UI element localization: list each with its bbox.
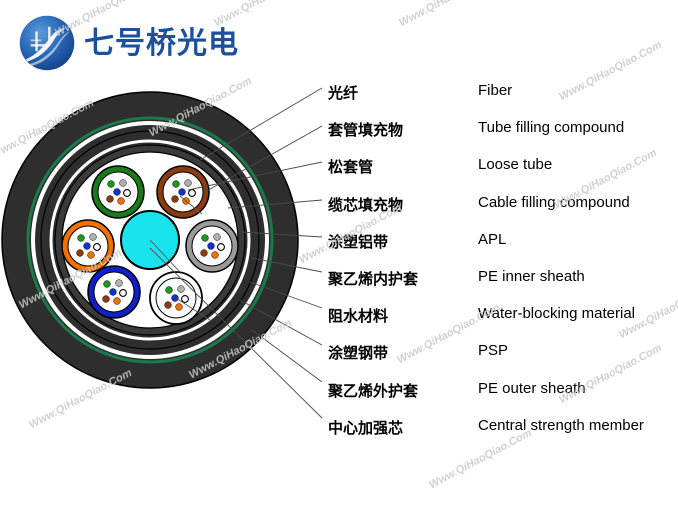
watermark-text: Www.QiHaoQiao.Com bbox=[557, 342, 664, 406]
label-en-pe-outer-sheath: PE outer sheath bbox=[478, 380, 586, 397]
brand-logo: 七号桥光电 bbox=[18, 12, 318, 74]
cable-cross-section-diagram bbox=[0, 60, 340, 420]
brand-name: 七号桥光电 bbox=[84, 18, 239, 62]
label-en-central-strength-member: Central strength member bbox=[478, 417, 644, 434]
label-cn-pe-outer-sheath: 聚乙烯外护套 bbox=[328, 380, 418, 401]
bridge-sphere-logo-icon bbox=[18, 14, 76, 72]
label-cn-psp: 涂塑钢带 bbox=[328, 342, 388, 363]
loose-tube-grey bbox=[186, 220, 238, 272]
watermark-text: Www.QiHaoQiao.Com bbox=[427, 427, 534, 491]
label-en-pe-inner-sheath: PE inner sheath bbox=[478, 268, 585, 285]
label-cn-apl: 涂塑铝带 bbox=[328, 231, 388, 252]
label-cn-cable-filling-compound: 缆芯填充物 bbox=[328, 194, 403, 215]
loose-tube-brown bbox=[157, 166, 209, 218]
label-en-loose-tube: Loose tube bbox=[478, 156, 552, 173]
loose-tube-green bbox=[92, 166, 144, 218]
label-cn-water-blocking-material: 阻水材料 bbox=[328, 305, 388, 326]
watermark-text: Www.QiHaoQiao.Com bbox=[397, 0, 504, 29]
label-cn-loose-tube: 松套管 bbox=[328, 156, 373, 177]
label-en-water-blocking-material: Water-blocking material bbox=[478, 305, 635, 322]
loose-tube-blue bbox=[88, 266, 140, 318]
watermark-text: Www.QiHaoQiao.Com bbox=[557, 39, 664, 103]
label-en-fiber: Fiber bbox=[478, 82, 512, 99]
label-cn-pe-inner-sheath: 聚乙烯内护套 bbox=[328, 268, 418, 289]
label-cn-central-strength-member: 中心加强芯 bbox=[328, 417, 403, 438]
label-en-tube-filling-compound: Tube filling compound bbox=[478, 119, 624, 136]
label-en-apl: APL bbox=[478, 231, 506, 248]
label-en-psp: PSP bbox=[478, 342, 508, 359]
label-cn-fiber: 光纤 bbox=[328, 82, 358, 103]
label-en-cable-filling-compound: Cable filling compound bbox=[478, 194, 630, 211]
loose-tube-orange bbox=[62, 220, 114, 272]
label-cn-tube-filling-compound: 套管填充物 bbox=[328, 119, 403, 140]
